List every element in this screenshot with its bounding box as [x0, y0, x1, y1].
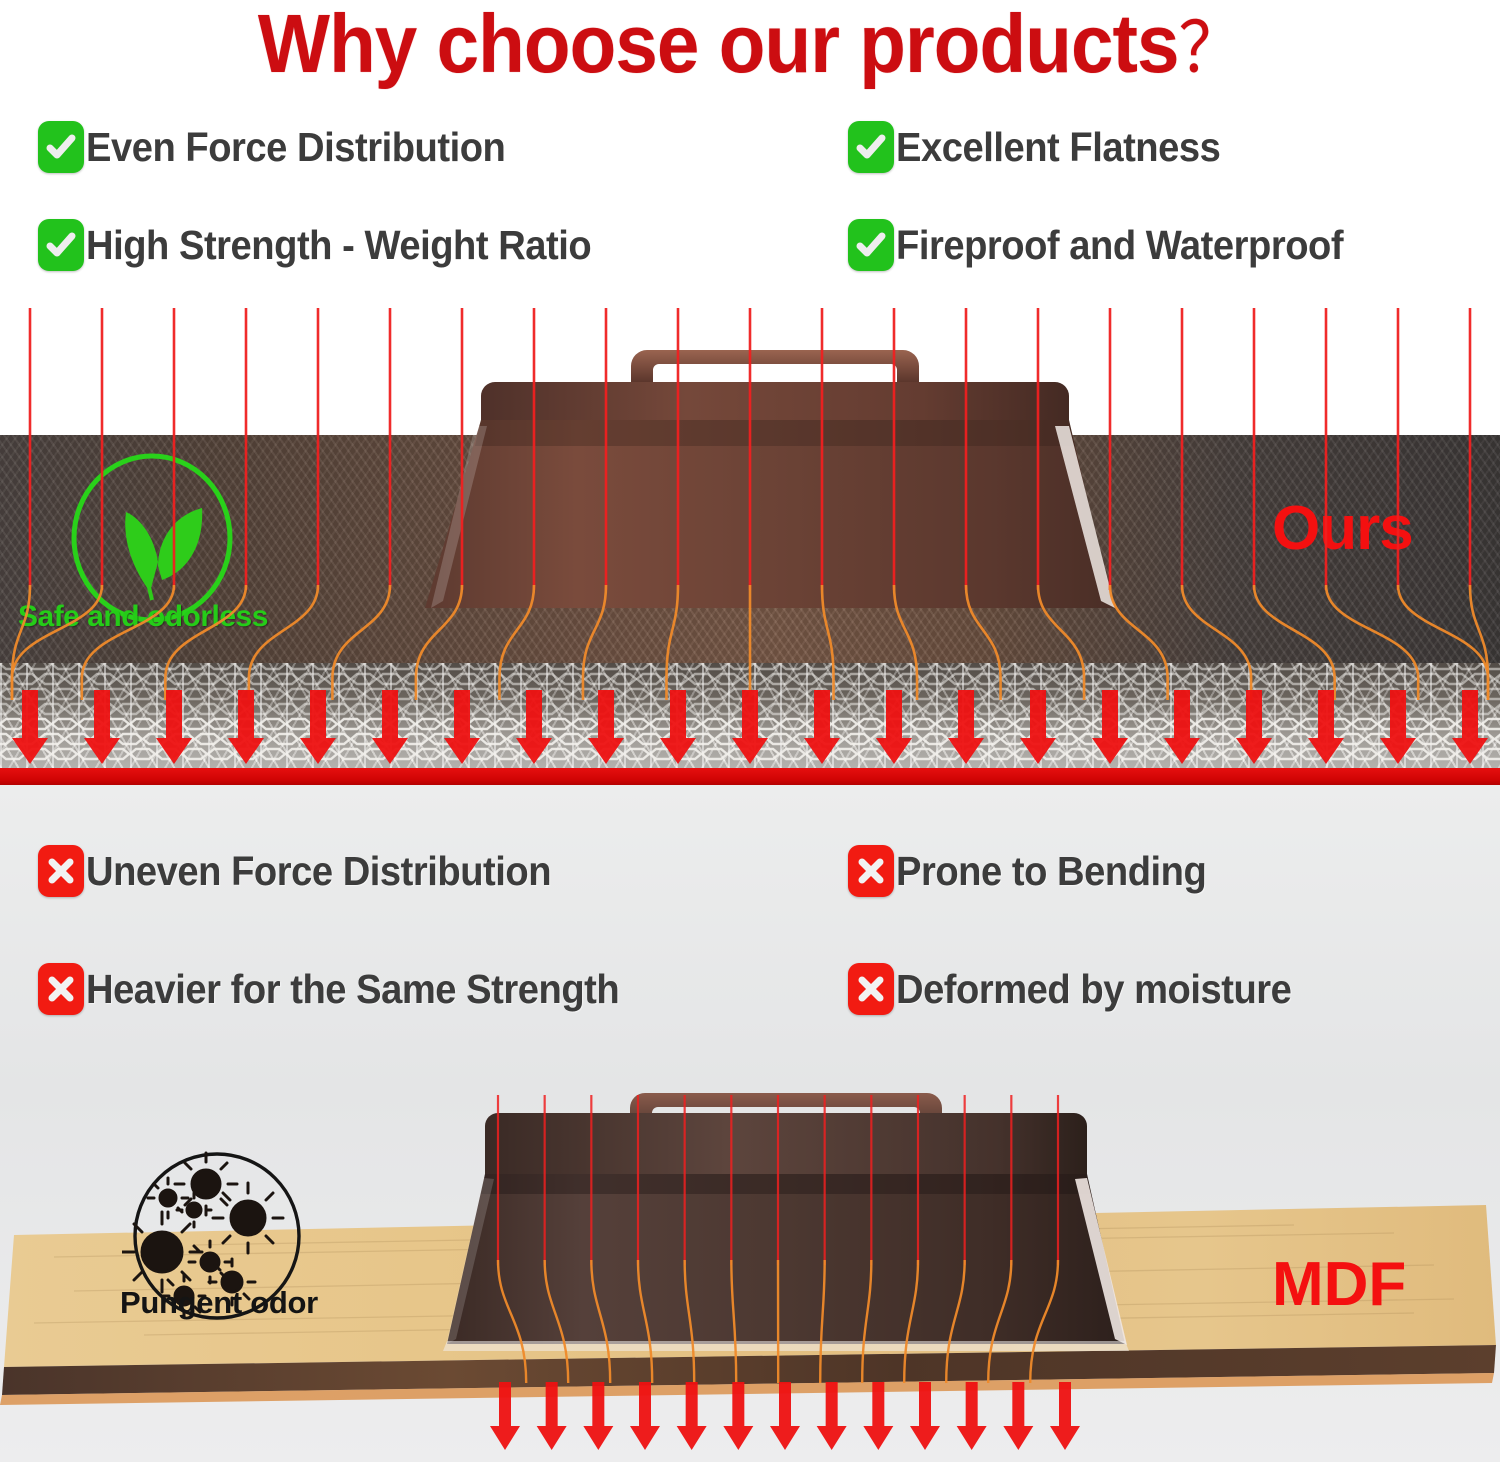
- pro-item-1: Excellent Flatness: [848, 121, 1245, 173]
- force-base-bar: [0, 768, 1500, 785]
- con-item-0: Uneven Force Distribution: [38, 845, 586, 897]
- con-item-label: Deformed by moisture: [896, 966, 1291, 1013]
- odor-badge-caption: Pungent odor: [120, 1285, 318, 1321]
- question-mark: ？: [1179, 11, 1242, 88]
- page-title-text: Why choose our products: [258, 0, 1179, 90]
- eco-badge-caption: Safe and odorless: [18, 600, 268, 634]
- check-icon: [848, 121, 894, 173]
- con-item-label: Heavier for the Same Strength: [86, 966, 619, 1013]
- con-item-3: Deformed by moisture: [848, 963, 1321, 1015]
- pro-item-3: Fireproof and Waterproof: [848, 219, 1377, 271]
- pro-item-0: Even Force Distribution: [38, 121, 537, 173]
- pro-item-label: Even Force Distribution: [86, 124, 505, 171]
- weight-block-icon: [395, 330, 1155, 615]
- cross-icon: [848, 963, 894, 1015]
- check-icon: [848, 219, 894, 271]
- pro-item-label: High Strength - Weight Ratio: [86, 222, 591, 269]
- check-icon: [38, 219, 84, 271]
- page-title: Why choose our products？: [60, 0, 1440, 96]
- ours-label: Ours: [1272, 493, 1413, 564]
- pro-item-2: High Strength - Weight Ratio: [38, 219, 629, 271]
- infographic-page: Why choose our products？ Even Force Dist…: [0, 0, 1500, 1462]
- cross-icon: [38, 963, 84, 1015]
- con-item-1: Prone to Bending: [848, 845, 1230, 897]
- con-item-label: Uneven Force Distribution: [86, 848, 551, 895]
- con-item-2: Heavier for the Same Strength: [38, 963, 659, 1015]
- pro-item-label: Fireproof and Waterproof: [896, 222, 1343, 269]
- weight-block-icon: [420, 1085, 1150, 1360]
- honeycomb-cells-icon: [0, 663, 1500, 768]
- mdf-label: MDF: [1272, 1249, 1406, 1320]
- pro-item-label: Excellent Flatness: [896, 124, 1220, 171]
- cross-icon: [38, 845, 84, 897]
- cross-icon: [848, 845, 894, 897]
- check-icon: [38, 121, 84, 173]
- con-item-label: Prone to Bending: [896, 848, 1206, 895]
